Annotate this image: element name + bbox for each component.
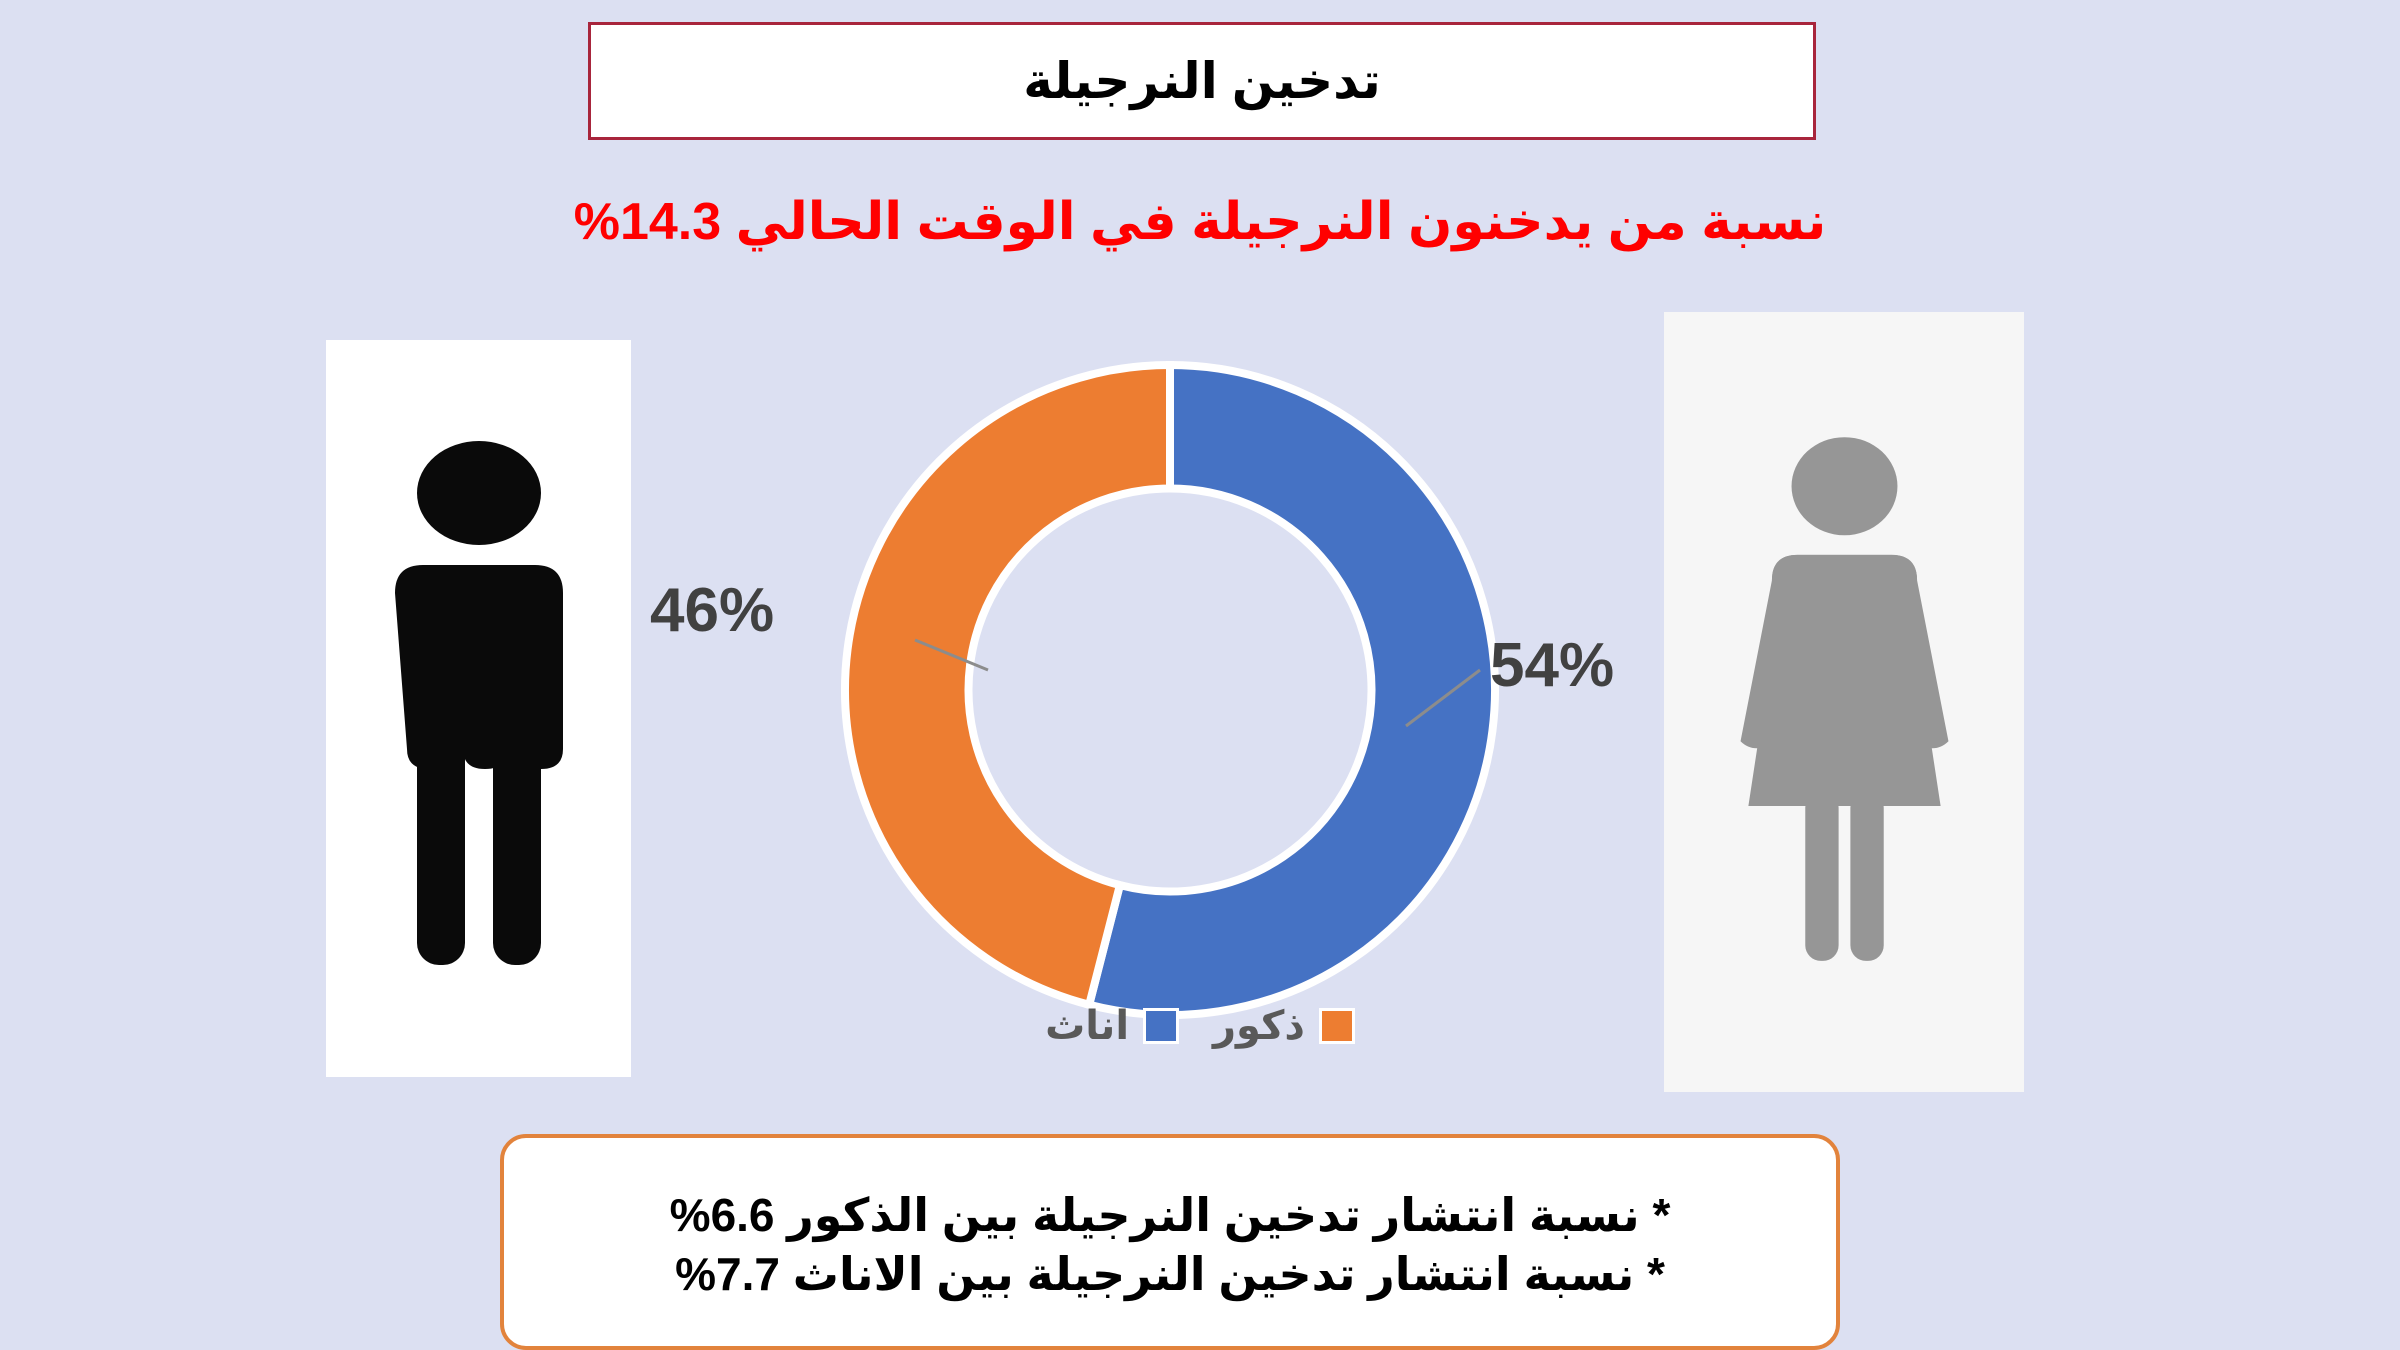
footnote-box: * نسبة انتشار تدخين النرجيلة بين الذكور … bbox=[500, 1134, 1840, 1350]
subtitle-text: نسبة من يدخنون النرجيلة في الوقت الحالي … bbox=[0, 192, 2400, 252]
title-box: تدخين النرجيلة bbox=[588, 22, 1816, 140]
legend-item-males[interactable]: ذكور bbox=[1213, 1006, 1355, 1046]
donut-slices bbox=[845, 365, 1495, 1015]
chart-legend: ذكور اناث bbox=[0, 1006, 2400, 1046]
female-pictogram-icon bbox=[1717, 382, 1972, 1022]
page-title: تدخين النرجيلة bbox=[1023, 54, 1381, 109]
footnote-line-females: * نسبة انتشار تدخين النرجيلة بين الاناث … bbox=[675, 1245, 1665, 1304]
legend-item-females[interactable]: اناث bbox=[1045, 1006, 1179, 1046]
slide-canvas: تدخين النرجيلة نسبة من يدخنون النرجيلة ف… bbox=[0, 0, 2400, 1350]
legend-swatch-males bbox=[1319, 1008, 1355, 1044]
legend-label-females: اناث bbox=[1045, 1006, 1129, 1046]
legend-label-males: ذكور bbox=[1213, 1006, 1305, 1046]
donut-chart-svg bbox=[820, 340, 1520, 1040]
female-figure-panel bbox=[1664, 312, 2024, 1092]
donut-label-males-pct: 46% bbox=[650, 575, 774, 646]
legend-swatch-females bbox=[1143, 1008, 1179, 1044]
male-pictogram-icon bbox=[359, 409, 599, 1009]
male-figure-panel bbox=[326, 340, 631, 1077]
donut-chart: 46% 54% bbox=[800, 330, 1560, 1090]
donut-label-females-pct: 54% bbox=[1490, 630, 1614, 701]
footnote-line-males: * نسبة انتشار تدخين النرجيلة بين الذكور … bbox=[670, 1186, 1671, 1245]
